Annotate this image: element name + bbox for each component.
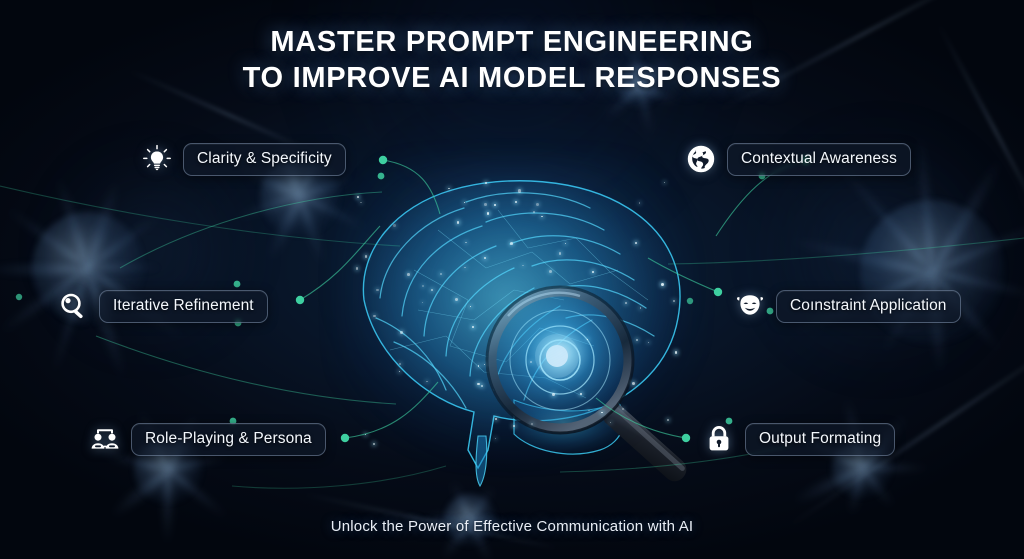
connector-sweep-left-lower	[96, 336, 396, 404]
globe-icon	[684, 142, 718, 176]
node-iterative[interactable]: Iterative Refinement	[56, 289, 268, 323]
node-label-roleplay[interactable]: Role-Playing & Persona	[131, 423, 326, 456]
node-label-contextual[interactable]: Contextual Awareness	[727, 143, 911, 176]
connector-roleplay	[345, 382, 438, 438]
org-chart-icon	[88, 422, 122, 456]
footer-tagline: Unlock the Power of Effective Communicat…	[0, 518, 1024, 535]
title-line-1: MASTER PROMPT ENGINEERING	[0, 24, 1024, 60]
connector-clarity	[383, 160, 440, 214]
node-formatting[interactable]: Output Formating	[702, 422, 895, 456]
node-label-constraint[interactable]: Coınstraint Application	[776, 290, 961, 323]
node-clarity[interactable]: Clarity & Specificity	[140, 142, 346, 176]
title-line-2: TO IMPROVE AI MODEL RESPONSES	[0, 60, 1024, 96]
infographic-canvas: MASTER PROMPT ENGINEERING TO IMPROVE AI …	[0, 0, 1024, 559]
node-constraint[interactable]: Coınstraint Application	[733, 289, 961, 323]
node-roleplay[interactable]: Role-Playing & Persona	[88, 422, 326, 456]
smiling-mask-icon	[733, 289, 767, 323]
connector-iterative	[300, 226, 380, 300]
lightbulb-icon	[140, 142, 174, 176]
connector-sweep-bottom-left	[232, 466, 446, 488]
connector-sweep-right	[668, 238, 1024, 264]
node-contextual[interactable]: Contextual Awareness	[684, 142, 911, 176]
node-label-formatting[interactable]: Output Formating	[745, 423, 895, 456]
connector-sweep-far-left	[0, 186, 400, 246]
node-label-iterative[interactable]: Iterative Refinement	[99, 290, 268, 323]
connector-formatting	[596, 398, 686, 438]
connector-sweep-left-upper	[120, 192, 382, 268]
node-label-clarity[interactable]: Clarity & Specificity	[183, 143, 346, 176]
magnifier-icon	[56, 289, 90, 323]
page-title: MASTER PROMPT ENGINEERING TO IMPROVE AI …	[0, 24, 1024, 96]
lock-icon	[702, 422, 736, 456]
